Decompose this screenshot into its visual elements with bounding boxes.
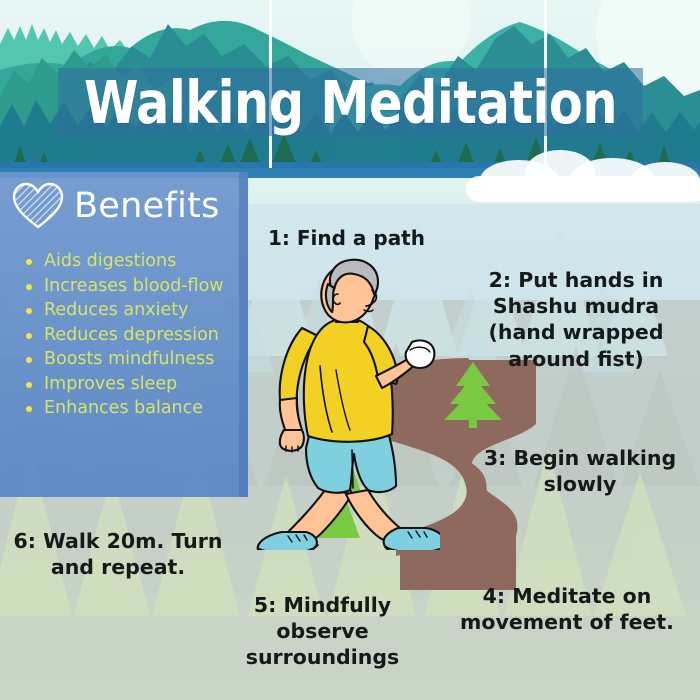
benefit-item: Enhances balance — [22, 397, 237, 421]
step-2-label: 2: Put hands in Shashu mudra (hand wrapp… — [460, 267, 692, 372]
benefits-panel: Benefits Aids digestions Increases blood… — [0, 172, 248, 497]
step-5-label: 5: Mindfully observe surroundings — [230, 592, 415, 671]
benefits-header: Benefits — [12, 182, 220, 230]
step-3-label: 3: Begin walking slowly — [462, 445, 698, 497]
step-6-label: 6: Walk 20m. Turn and repeat. — [2, 528, 234, 580]
benefit-item: Increases blood-flow — [22, 275, 237, 299]
benefit-item: Aids digestions — [22, 250, 237, 274]
benefit-item: Boosts mindfulness — [22, 348, 237, 372]
walking-man-illustration — [240, 250, 440, 550]
benefit-item: Reduces anxiety — [22, 299, 237, 323]
benefit-item: Reduces depression — [22, 324, 237, 348]
heart-icon — [12, 182, 64, 230]
benefit-item: Improves sleep — [22, 373, 237, 397]
step-4-label: 4: Meditate on movement of feet. — [438, 583, 696, 635]
infographic-poster: Walking Meditation Benefits Aids digesti… — [0, 0, 700, 700]
benefits-list: Aids digestions Increases blood-flow Red… — [22, 250, 237, 422]
page-title: Walking Meditation — [78, 64, 622, 140]
benefits-panel-edge — [239, 172, 248, 497]
benefits-title: Benefits — [74, 186, 220, 226]
step-1-label: 1: Find a path — [268, 226, 425, 252]
